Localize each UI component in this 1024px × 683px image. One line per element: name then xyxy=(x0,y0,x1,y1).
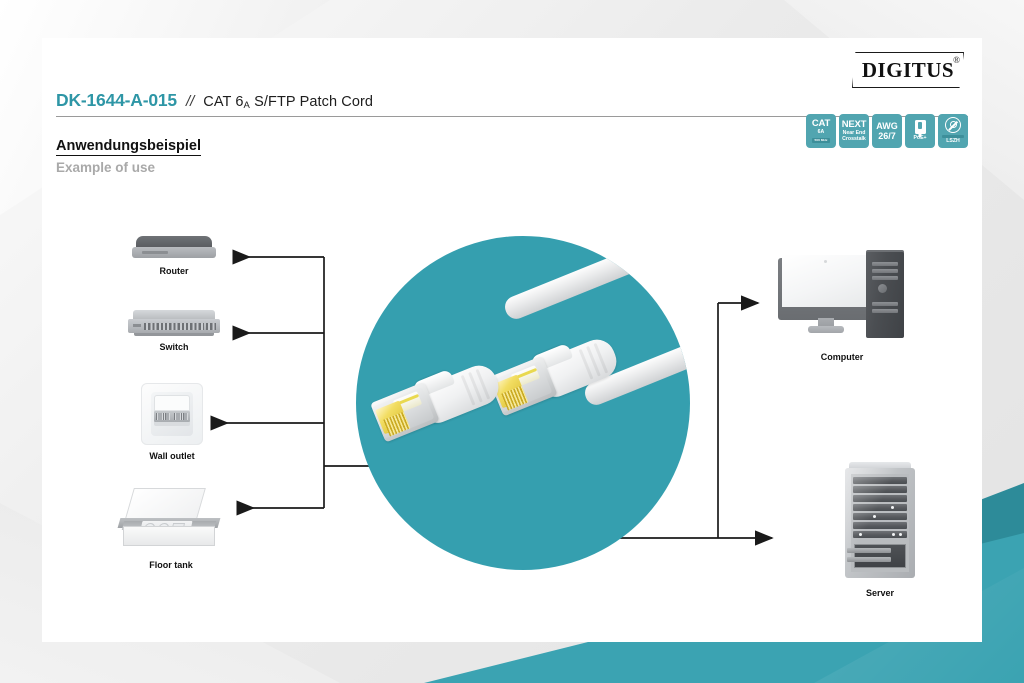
device-router[interactable]: Router xyxy=(114,236,234,276)
lszh-badge: LSZH xyxy=(938,114,968,148)
product-title-row: DK-1644-A-015 // CAT 6A S/FTP Patch Cord xyxy=(56,90,968,117)
section-heading-german: Anwendungsbeispiel xyxy=(56,138,201,156)
product-description-rest: S/FTP Patch Cord xyxy=(250,94,373,110)
datasheet-card: DIGITUS ® DK-1644-A-015 // CAT 6A S/FTP … xyxy=(42,38,982,642)
next-badge-title: NEXT xyxy=(842,120,867,130)
no-halogen-icon xyxy=(945,117,961,133)
device-label-switch: Switch xyxy=(110,342,238,352)
cat6a-badge-bandwidth: 500 MHz xyxy=(812,138,829,143)
section-heading-english: Example of use xyxy=(56,160,155,175)
next-badge-line2: Crosstalk xyxy=(842,137,866,143)
product-sku: DK-1644-A-015 xyxy=(56,90,177,111)
device-server[interactable]: Server xyxy=(810,460,950,598)
cat6a-badge-title: CAT xyxy=(812,119,830,129)
router-icon xyxy=(132,236,216,260)
device-label-floor-tank: Floor tank xyxy=(108,560,234,570)
application-diagram: Router Switch Wall outlet xyxy=(42,188,982,642)
registered-trademark-icon: ® xyxy=(953,55,960,65)
computer-icon xyxy=(778,250,906,346)
device-label-router: Router xyxy=(114,266,234,276)
power-plug-icon xyxy=(915,120,926,134)
cat6a-badge: CAT 6A 500 MHz xyxy=(806,114,836,148)
device-label-server: Server xyxy=(810,588,950,598)
device-label-computer: Computer xyxy=(772,352,912,362)
cat6a-badge-category: 6A xyxy=(818,130,825,136)
device-floor-tank[interactable]: Floor tank xyxy=(108,488,234,570)
device-computer[interactable]: Computer xyxy=(772,250,912,362)
device-switch[interactable]: Switch xyxy=(110,310,238,352)
digitus-logo: DIGITUS ® xyxy=(852,52,964,88)
product-description-main: CAT 6 xyxy=(203,94,243,110)
product-description-subscript: A xyxy=(244,100,250,111)
patch-cord-illustration xyxy=(356,236,690,570)
poe-badge: PoE+ xyxy=(905,114,935,148)
wall-outlet-icon xyxy=(141,383,203,445)
awg-badge-title: AWG xyxy=(876,121,898,131)
product-description: CAT 6A S/FTP Patch Cord xyxy=(203,94,373,110)
awg-badge: AWG 26/7 xyxy=(872,114,902,148)
certification-badges: CAT 6A 500 MHz NEXT Near End Crosstalk A… xyxy=(806,114,968,148)
logo-wordmark: DIGITUS xyxy=(852,58,964,83)
floor-tank-icon xyxy=(119,488,223,552)
poe-badge-label: PoE+ xyxy=(913,136,926,142)
lszh-badge-label: LSZH xyxy=(946,139,960,145)
device-label-wall-outlet: Wall outlet xyxy=(134,451,210,461)
title-separator: // xyxy=(186,93,194,110)
awg-badge-value: 26/7 xyxy=(878,131,896,141)
server-icon xyxy=(843,460,917,580)
device-wall-outlet[interactable]: Wall outlet xyxy=(134,383,210,461)
switch-icon xyxy=(128,310,220,336)
next-badge: NEXT Near End Crosstalk xyxy=(839,114,869,148)
